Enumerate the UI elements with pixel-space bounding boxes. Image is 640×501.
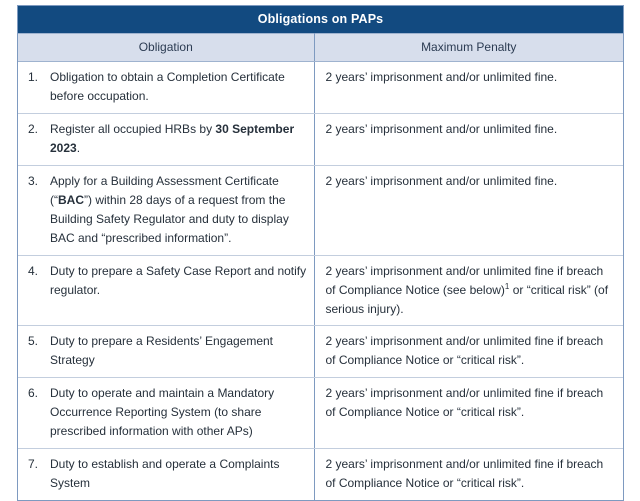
obligation-cell: 6.Duty to operate and maintain a Mandato… [18,378,314,449]
obligation-text: Apply for a Building Assessment Certific… [50,172,308,248]
obligation-number: 3. [26,172,50,191]
obligation-number: 5. [26,332,50,351]
obligation-number: 1. [26,68,50,87]
obligation-text: Duty to establish and operate a Complain… [50,455,308,493]
table-head: Obligations on PAPs Obligation Maximum P… [18,6,623,62]
obligation-number: 6. [26,384,50,403]
table-row: 7.Duty to establish and operate a Compla… [18,449,623,500]
obligation-text: Duty to prepare a Residents’ Engagement … [50,332,308,370]
table-row: 6.Duty to operate and maintain a Mandato… [18,378,623,449]
obligation-text: Duty to prepare a Safety Case Report and… [50,262,308,300]
obligation-cell: 7.Duty to establish and operate a Compla… [18,449,314,500]
obligation-number: 4. [26,262,50,281]
table-row: 2.Register all occupied HRBs by 30 Septe… [18,113,623,165]
obligation-cell: 3. Apply for a Building Assessment Certi… [18,165,314,255]
table-row: 4.Duty to prepare a Safety Case Report a… [18,255,623,326]
footnote-marker: 1 [505,282,509,291]
emphasis-text: BAC [58,193,84,207]
obligation-cell: 2.Register all occupied HRBs by 30 Septe… [18,113,314,165]
obligations-table-container: Obligations on PAPs Obligation Maximum P… [17,5,624,501]
maximum-penalty-cell: 2 years’ imprisonment and/or unlimited f… [314,165,623,255]
table-title: Obligations on PAPs [18,6,623,34]
emphasis-text: 30 September 2023 [50,122,294,155]
maximum-penalty-cell: 2 years’ imprisonment and/or unlimited f… [314,449,623,500]
obligation-number: 2. [26,120,50,139]
table-title-row: Obligations on PAPs [18,6,623,34]
column-header-maximum-penalty: Maximum Penalty [314,34,623,62]
table-row: 5.Duty to prepare a Residents’ Engagemen… [18,326,623,378]
maximum-penalty-cell: 2 years’ imprisonment and/or unlimited f… [314,113,623,165]
obligation-cell: 4.Duty to prepare a Safety Case Report a… [18,255,314,326]
obligation-number: 7. [26,455,50,474]
maximum-penalty-cell: 2 years’ imprisonment and/or unlimited f… [314,326,623,378]
maximum-penalty-cell: 2 years’ imprisonment and/or unlimited f… [314,62,623,114]
obligation-cell: 5.Duty to prepare a Residents’ Engagemen… [18,326,314,378]
obligation-cell: 1.Obligation to obtain a Completion Cert… [18,62,314,114]
maximum-penalty-cell: 2 years’ imprisonment and/or unlimited f… [314,255,623,326]
column-header-obligation: Obligation [18,34,314,62]
table-row: 3. Apply for a Building Assessment Certi… [18,165,623,255]
maximum-penalty-cell: 2 years’ imprisonment and/or unlimited f… [314,378,623,449]
obligation-text: Obligation to obtain a Completion Certif… [50,68,308,106]
table-body: 1.Obligation to obtain a Completion Cert… [18,62,623,501]
obligation-text: Register all occupied HRBs by 30 Septemb… [50,120,308,158]
obligations-table: Obligations on PAPs Obligation Maximum P… [18,6,623,500]
document-page: Obligations on PAPs Obligation Maximum P… [0,0,640,433]
table-column-header-row: Obligation Maximum Penalty [18,34,623,62]
table-row: 1.Obligation to obtain a Completion Cert… [18,62,623,114]
